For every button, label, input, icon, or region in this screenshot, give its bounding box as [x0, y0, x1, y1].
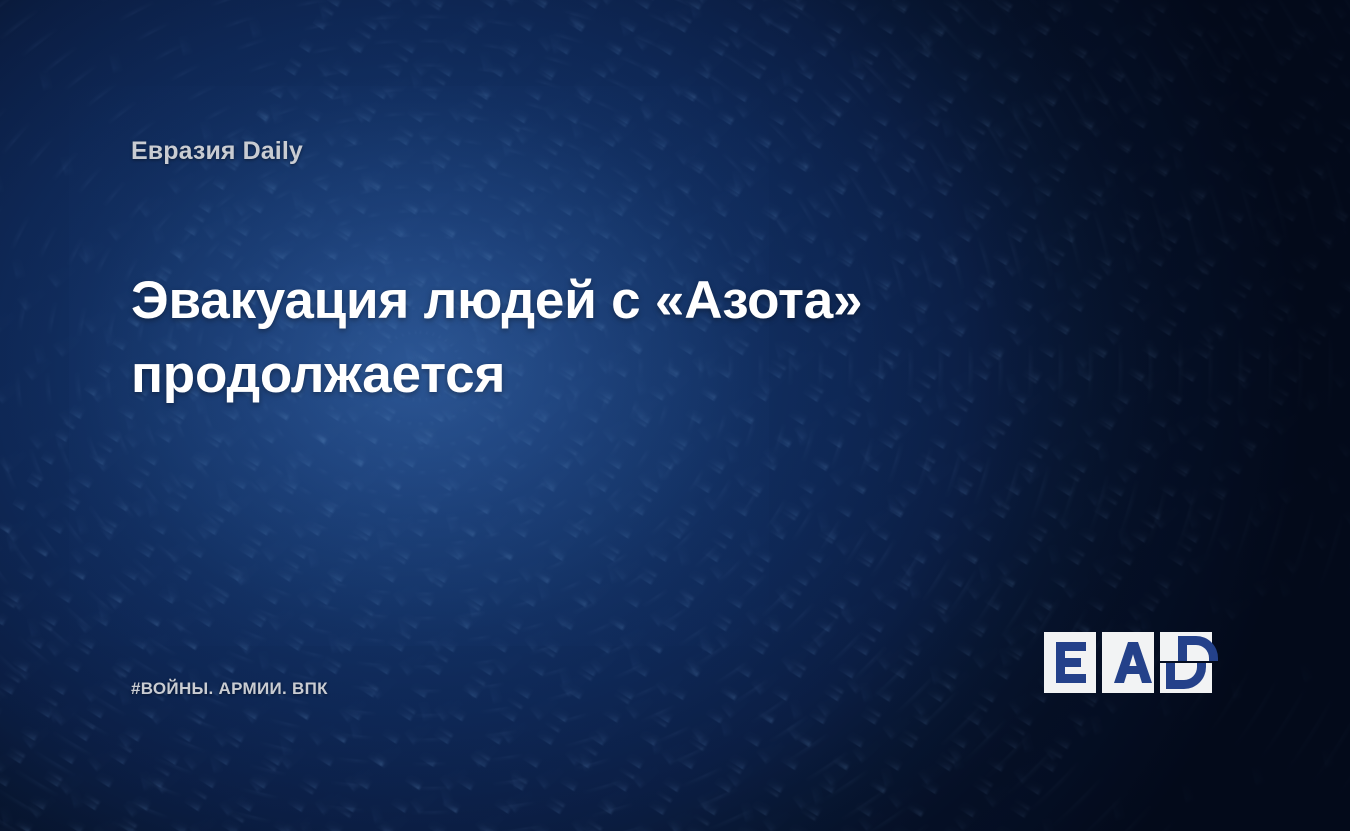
brand-name: Евразия Daily: [131, 137, 303, 166]
news-share-card: Евразия Daily Эвакуация людей с «Азота» …: [0, 0, 1350, 831]
eadaily-logo-svg: [1044, 632, 1220, 693]
card-content: Евразия Daily Эвакуация людей с «Азота» …: [0, 0, 1350, 831]
headline-title: Эвакуация людей с «Азота» продолжается: [131, 264, 961, 412]
eadaily-logo: [1044, 632, 1220, 693]
category-tagline: #ВОЙНЫ. АРМИИ. ВПК: [131, 679, 328, 699]
